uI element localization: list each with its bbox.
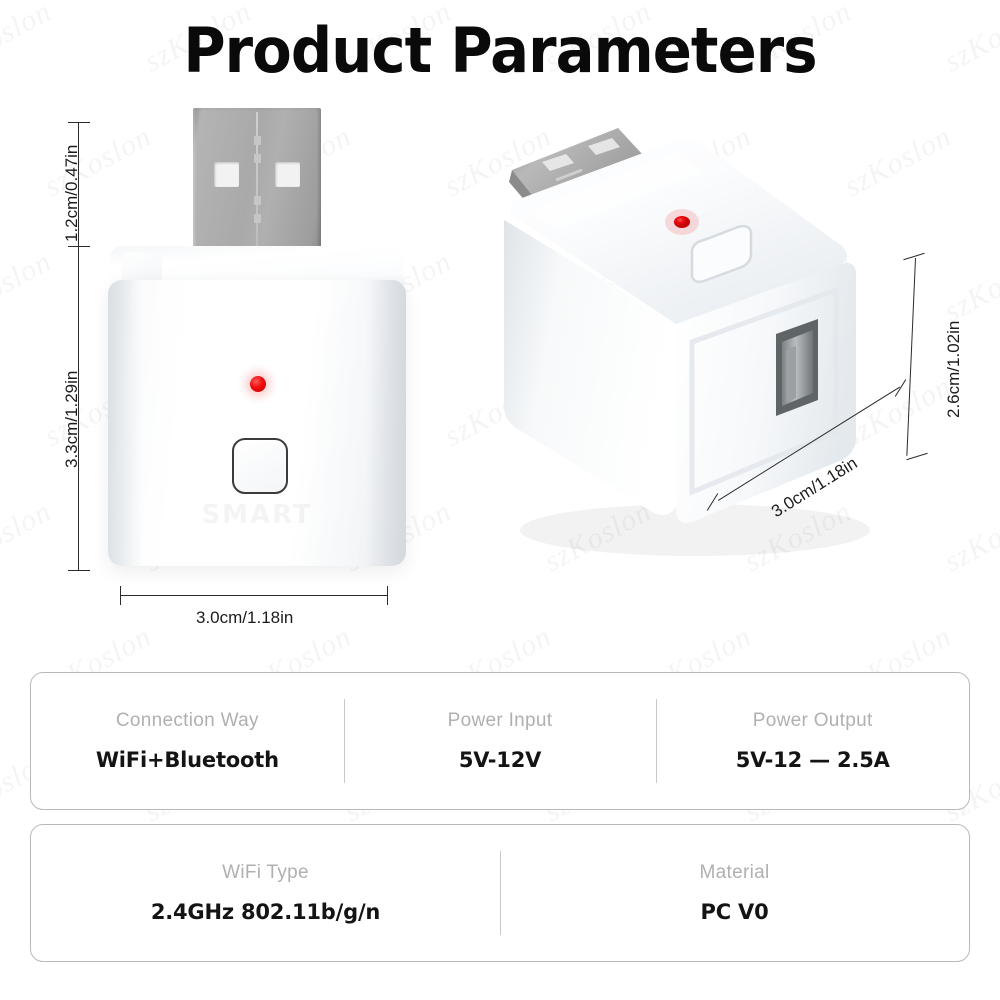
product-parameters-page: Product Parameters SMART: [0, 0, 1000, 1000]
dimension-line-left-width: [120, 595, 388, 596]
dimension-tick: [707, 493, 718, 510]
spec-label: Power Input: [448, 710, 553, 732]
spec-row-2: WiFi Type 2.4GHz 802.11b/g/n Material PC…: [30, 824, 970, 962]
spec-label: Material: [700, 862, 770, 884]
spec-cell-wifi-type: WiFi Type 2.4GHz 802.11b/g/n: [31, 825, 500, 961]
spec-label: Connection Way: [116, 710, 259, 732]
spec-label: Power Output: [753, 710, 873, 732]
spec-value: 5V-12 — 2.5A: [736, 748, 890, 772]
spec-cell-connection-way: Connection Way WiFi+Bluetooth: [31, 673, 344, 809]
spec-value: 2.4GHz 802.11b/g/n: [151, 900, 380, 924]
dimension-label-right-height: 2.6cm/1.02in: [944, 321, 964, 418]
dimension-label-left-plug: 1.2cm/0.47in: [62, 145, 82, 242]
dimension-tick: [68, 570, 90, 571]
watermark-text: szKoslon: [139, 995, 258, 1000]
spec-label: WiFi Type: [222, 862, 309, 884]
spec-row-1: Connection Way WiFi+Bluetooth Power Inpu…: [30, 672, 970, 810]
spec-cell-power-input: Power Input 5V-12V: [344, 673, 657, 809]
specifications-section: Connection Way WiFi+Bluetooth Power Inpu…: [0, 672, 1000, 976]
dimension-label-left-width: 3.0cm/1.18in: [196, 608, 293, 628]
spec-value: 5V-12V: [459, 748, 541, 772]
dimension-tick: [68, 122, 90, 123]
spec-value: WiFi+Bluetooth: [96, 748, 279, 772]
watermark-text: szKoslon: [939, 995, 1000, 1000]
dimension-tick: [906, 453, 927, 460]
spec-cell-power-output: Power Output 5V-12 — 2.5A: [656, 673, 969, 809]
dimension-tick: [120, 586, 121, 605]
dimension-label-right-depth: 3.0cm/1.18in: [768, 453, 861, 522]
page-title: Product Parameters: [35, 16, 965, 86]
dimension-tick: [68, 246, 90, 247]
dimension-tick: [387, 586, 388, 605]
dimension-annotations: 1.2cm/0.47in 3.3cm/1.29in 3.0cm/1.18in 2…: [0, 100, 1000, 660]
watermark-text: szKoslon: [0, 995, 58, 1000]
watermark-text: szKoslon: [539, 995, 658, 1000]
spec-value: PC V0: [701, 900, 769, 924]
spec-cell-material: Material PC V0: [500, 825, 969, 961]
watermark-text: szKoslon: [339, 995, 458, 1000]
dimension-line-right-height: [906, 258, 916, 456]
watermark-text: szKoslon: [739, 995, 858, 1000]
dimension-label-left-body: 3.3cm/1.29in: [62, 371, 82, 468]
